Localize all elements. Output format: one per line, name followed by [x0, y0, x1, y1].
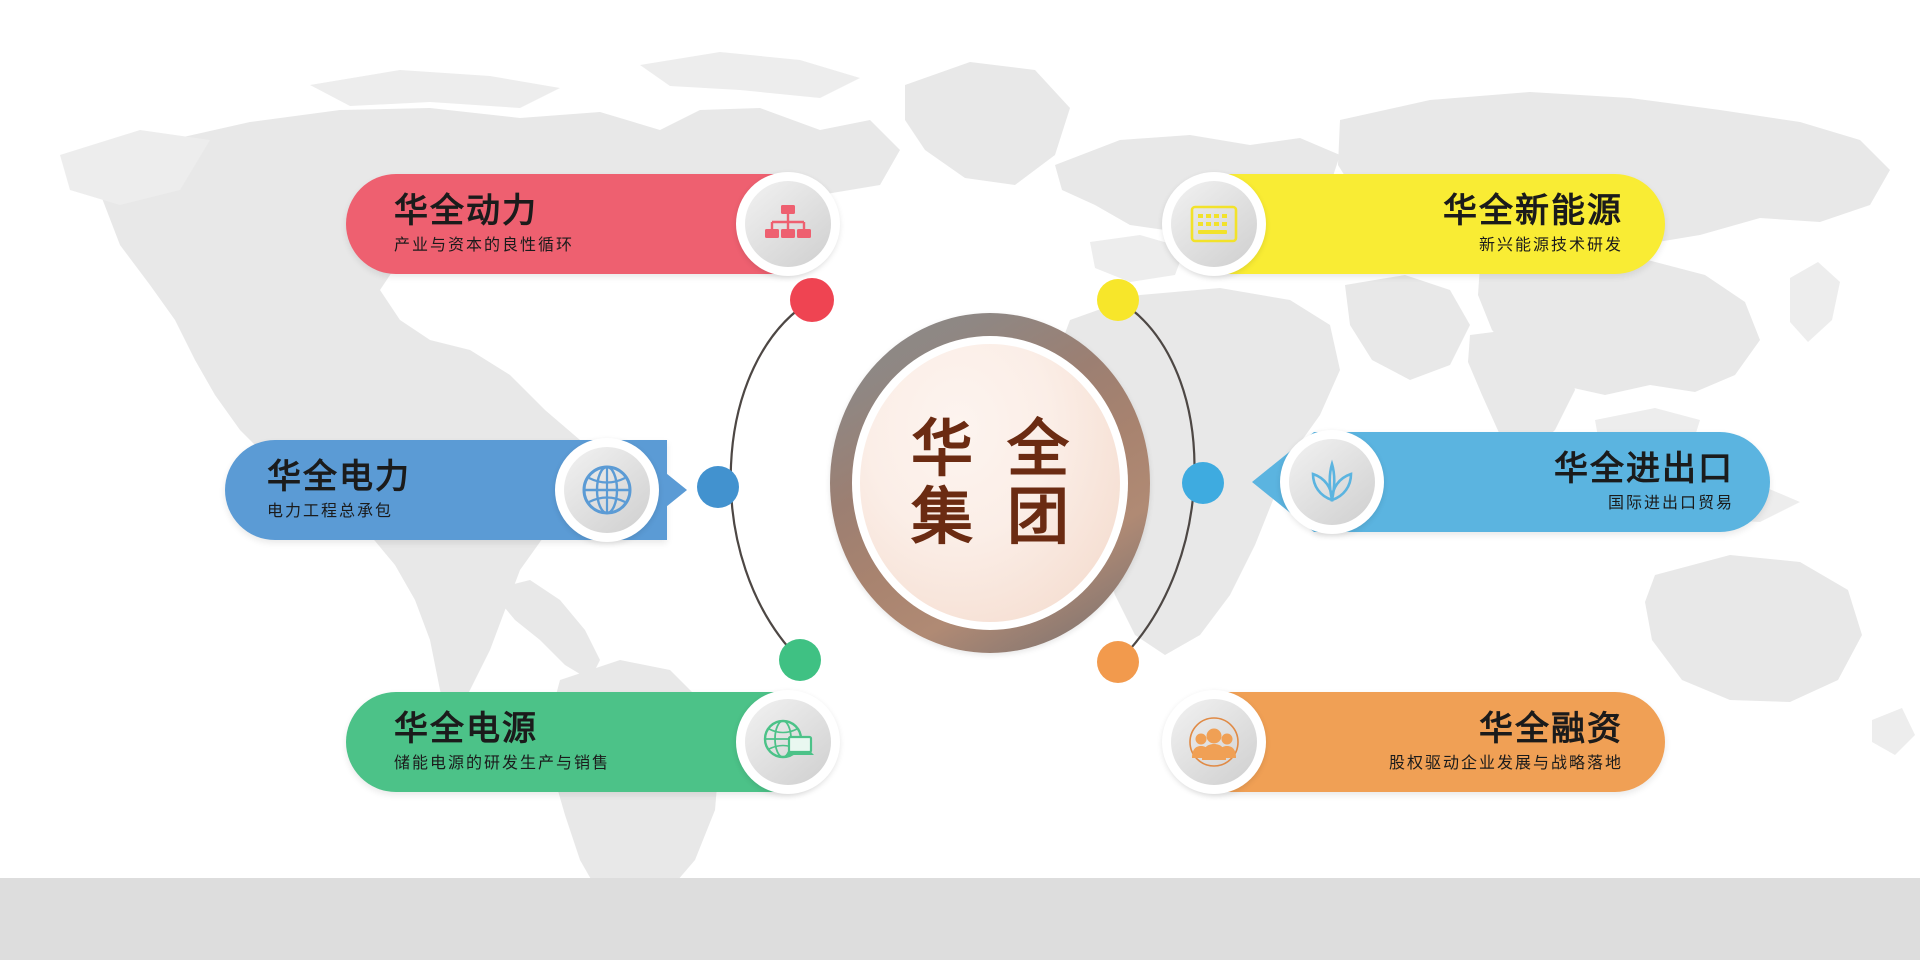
branch-subtitle-electric-power: 电力工程总承包 [267, 501, 411, 522]
branch-card-power-supply[interactable]: 华全电源 储能电源的研发生产与销售 [346, 692, 834, 792]
branch-text-import-export: 华全进出口 国际进出口贸易 [1554, 450, 1734, 514]
connector-dot-import-export [1182, 462, 1224, 504]
branch-title-power-supply: 华全电源 [394, 710, 610, 749]
branch-body-power-supply[interactable]: 华全电源 储能电源的研发生产与销售 [346, 692, 834, 792]
people-group-icon-glyph [1186, 714, 1242, 770]
branch-text-financing: 华全融资 股权驱动企业发展与战略落地 [1389, 710, 1623, 774]
branch-subtitle-new-energy: 新兴能源技术研发 [1479, 235, 1623, 256]
branch-icon-frame-import-export [1280, 430, 1384, 534]
branch-body-financing[interactable]: 华全融资 股权驱动企业发展与战略落地 [1168, 692, 1665, 792]
branch-body-import-export[interactable]: 华全进出口 国际进出口贸易 [1314, 432, 1770, 532]
branch-card-new-energy[interactable]: 华全新能源 新兴能源技术研发 [1168, 174, 1665, 274]
org-chart-icon [745, 181, 831, 267]
branch-title-electric-power: 华全电力 [267, 458, 411, 497]
branch-icon-frame-power-supply [736, 690, 840, 794]
branch-subtitle-financing: 股权驱动企业发展与战略落地 [1389, 753, 1623, 774]
center-char-2: 全 [1007, 418, 1069, 480]
branch-icon-frame-power-dynamics [736, 172, 840, 276]
branch-icon-frame-new-energy [1162, 172, 1266, 276]
keyboard-icon-glyph [1190, 204, 1238, 244]
branch-title-new-energy: 华全新能源 [1443, 192, 1623, 231]
globe-icon-glyph [580, 463, 634, 517]
branch-title-power-dynamics: 华全动力 [394, 192, 574, 231]
keyboard-icon [1171, 181, 1257, 267]
branch-card-import-export[interactable]: 华全进出口 国际进出口贸易 [1252, 432, 1770, 532]
branch-subtitle-import-export: 国际进出口贸易 [1608, 493, 1734, 514]
connector-dot-electric-power [697, 466, 739, 508]
globe-laptop-icon-glyph [761, 717, 815, 767]
branch-icon-frame-financing [1162, 690, 1266, 794]
branch-card-power-dynamics[interactable]: 华全动力 产业与资本的良性循环 [346, 174, 834, 274]
center-char-4: 团 [1007, 486, 1069, 548]
globe-laptop-icon [745, 699, 831, 785]
branch-text-new-energy: 华全新能源 新兴能源技术研发 [1443, 192, 1623, 256]
branch-text-power-supply: 华全电源 储能电源的研发生产与销售 [394, 710, 610, 774]
branch-title-import-export: 华全进出口 [1554, 450, 1734, 489]
connector-dot-power-supply [779, 639, 821, 681]
infographic-canvas: 华 全 集 团 华全动力 产业与资本的良性循环 [0, 0, 1920, 960]
branch-body-electric-power[interactable]: 华全电力 电力工程总承包 [225, 440, 667, 540]
globe-icon [564, 447, 650, 533]
branch-subtitle-power-dynamics: 产业与资本的良性循环 [394, 235, 574, 256]
branch-text-electric-power: 华全电力 电力工程总承包 [267, 458, 411, 522]
connector-dot-power-dynamics [790, 278, 834, 322]
center-face: 华 全 集 团 [860, 344, 1120, 622]
people-group-icon [1171, 699, 1257, 785]
center-node-hua-quan-group[interactable]: 华 全 集 团 [830, 313, 1150, 653]
leaf-icon [1289, 439, 1375, 525]
bottom-gray-band [0, 878, 1920, 960]
center-char-3: 集 [911, 486, 973, 548]
leaf-icon-glyph [1307, 458, 1357, 506]
branch-card-financing[interactable]: 华全融资 股权驱动企业发展与战略落地 [1168, 692, 1665, 792]
center-title: 华 全 集 团 [911, 418, 1069, 548]
branch-icon-frame-electric-power [555, 438, 659, 542]
org-chart-icon-glyph [765, 203, 811, 245]
branch-body-new-energy[interactable]: 华全新能源 新兴能源技术研发 [1168, 174, 1665, 274]
branch-title-financing: 华全融资 [1479, 710, 1623, 749]
branch-body-power-dynamics[interactable]: 华全动力 产业与资本的良性循环 [346, 174, 834, 274]
branch-subtitle-power-supply: 储能电源的研发生产与销售 [394, 753, 610, 774]
center-char-1: 华 [911, 418, 973, 480]
branch-card-electric-power[interactable]: 华全电力 电力工程总承包 [225, 440, 667, 540]
branch-text-power-dynamics: 华全动力 产业与资本的良性循环 [394, 192, 574, 256]
